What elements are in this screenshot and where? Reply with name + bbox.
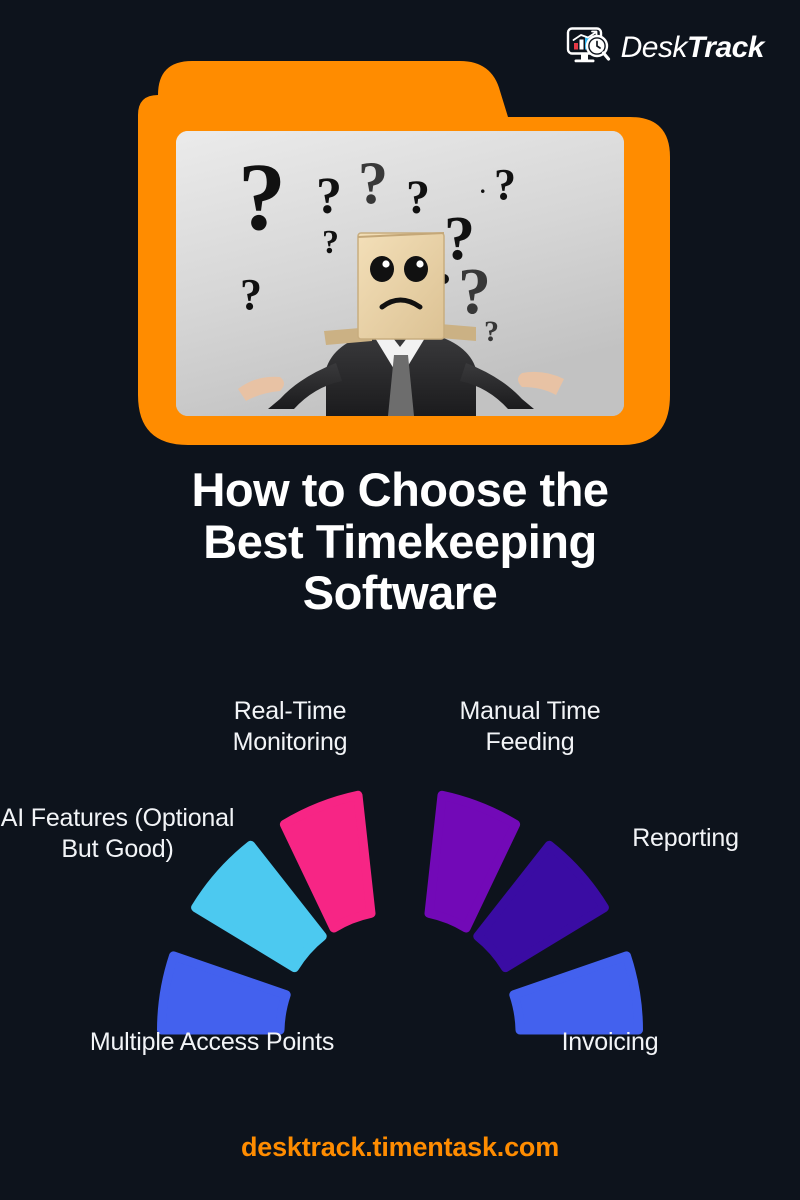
chart-label-multiple-access-points: Multiple Access Points (12, 1027, 412, 1058)
hero-photo: ? ? ? ? ? ? ? . ? ? ? (176, 131, 624, 416)
infographic-page: DeskTrack (0, 0, 800, 1200)
page-title: How to Choose the Best Timekeeping Softw… (60, 464, 740, 619)
svg-text:?: ? (406, 171, 430, 224)
svg-text:?: ? (322, 224, 339, 261)
title-line-3: Software (60, 567, 740, 619)
svg-text:?: ? (358, 150, 388, 216)
title-line-1: How to Choose the (60, 464, 740, 516)
svg-text:?: ? (494, 160, 516, 209)
brand-name-bold: Track (687, 31, 764, 64)
footer-url[interactable]: desktrack.timentask.com (0, 1132, 800, 1163)
chart-segment-invoicing[interactable] (514, 956, 639, 1030)
chart-label-manual-time-feeding: Manual Time Feeding (415, 696, 645, 757)
svg-text:?: ? (316, 168, 342, 225)
svg-text:?: ? (238, 143, 286, 250)
chart-label-invoicing: Invoicing (480, 1027, 740, 1058)
hero-folder: ? ? ? ? ? ? ? . ? ? ? (130, 55, 670, 450)
chart-label-ai-features: AI Features (Optional But Good) (0, 803, 235, 864)
svg-text:.: . (480, 173, 486, 198)
chart-label-reporting: Reporting (578, 823, 793, 854)
semicircle-donut-chart: Real-Time Monitoring Manual Time Feeding… (0, 660, 800, 1080)
chart-label-real-time-monitoring: Real-Time Monitoring (175, 696, 405, 757)
svg-text:?: ? (240, 270, 262, 319)
svg-text:?: ? (484, 315, 499, 348)
chart-segment-multiple-access-points[interactable] (162, 956, 287, 1030)
title-line-2: Best Timekeeping (60, 516, 740, 568)
